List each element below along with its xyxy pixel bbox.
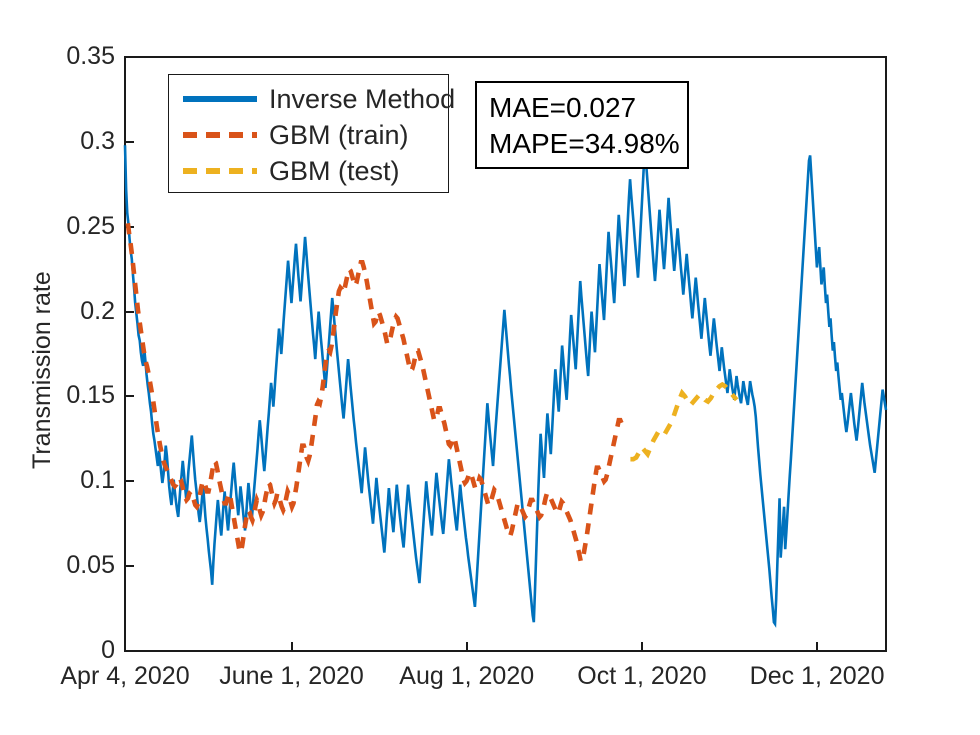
series-line-gbm-test bbox=[630, 385, 736, 460]
mae-text: MAE=0.027 bbox=[489, 91, 636, 125]
legend-label: GBM (test) bbox=[269, 153, 400, 189]
legend-item-gbm-test[interactable]: GBM (test) bbox=[183, 153, 438, 189]
legend-label: GBM (train) bbox=[269, 117, 409, 153]
mape-text: MAPE=34.98% bbox=[489, 127, 680, 161]
legend-item-gbm-train[interactable]: GBM (train) bbox=[183, 117, 438, 153]
legend-item-inverse-method[interactable]: Inverse Method bbox=[183, 81, 438, 117]
legend-line-sample bbox=[183, 168, 257, 174]
legend-label: Inverse Method bbox=[269, 81, 455, 117]
legend-line-sample bbox=[183, 132, 257, 138]
figure-chart: Transmission rate 00.050.10.150.20.250.3… bbox=[0, 0, 980, 735]
metrics-annotation-box: MAE=0.027 MAPE=34.98% bbox=[475, 81, 689, 169]
series-line-gbm-train bbox=[128, 223, 625, 561]
series-line-inverse-method bbox=[125, 145, 886, 624]
legend[interactable]: Inverse MethodGBM (train)GBM (test) bbox=[168, 74, 449, 193]
legend-line-sample bbox=[183, 96, 257, 102]
